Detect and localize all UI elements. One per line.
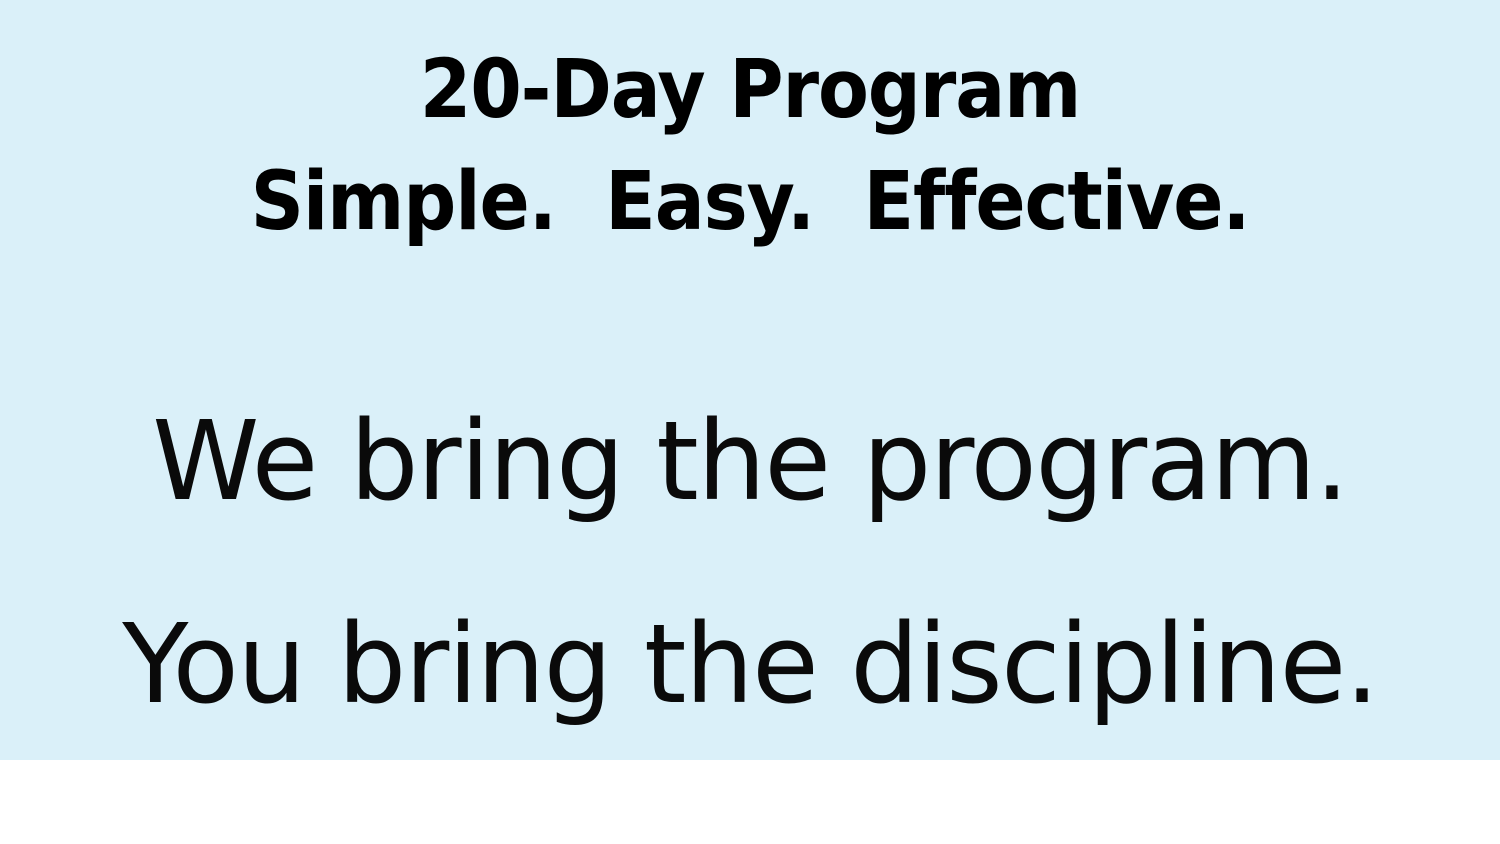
heading-block: 20-Day Program Simple. Easy. Effective. bbox=[0, 34, 1500, 258]
slide-text-content: 20-Day Program Simple. Easy. Effective. … bbox=[0, 0, 1500, 760]
slide-canvas: 20-Day Program Simple. Easy. Effective. … bbox=[0, 0, 1500, 844]
heading-line-program-title: 20-Day Program bbox=[64, 34, 1437, 146]
body-line-we-bring-program: We bring the program. bbox=[11, 360, 1489, 563]
body-line-you-bring-discipline: You bring the discipline. bbox=[11, 563, 1489, 766]
body-block: We bring the program. You bring the disc… bbox=[0, 360, 1500, 766]
heading-line-tagline: Simple. Easy. Effective. bbox=[64, 146, 1437, 258]
slide-footer-margin bbox=[0, 760, 1500, 844]
